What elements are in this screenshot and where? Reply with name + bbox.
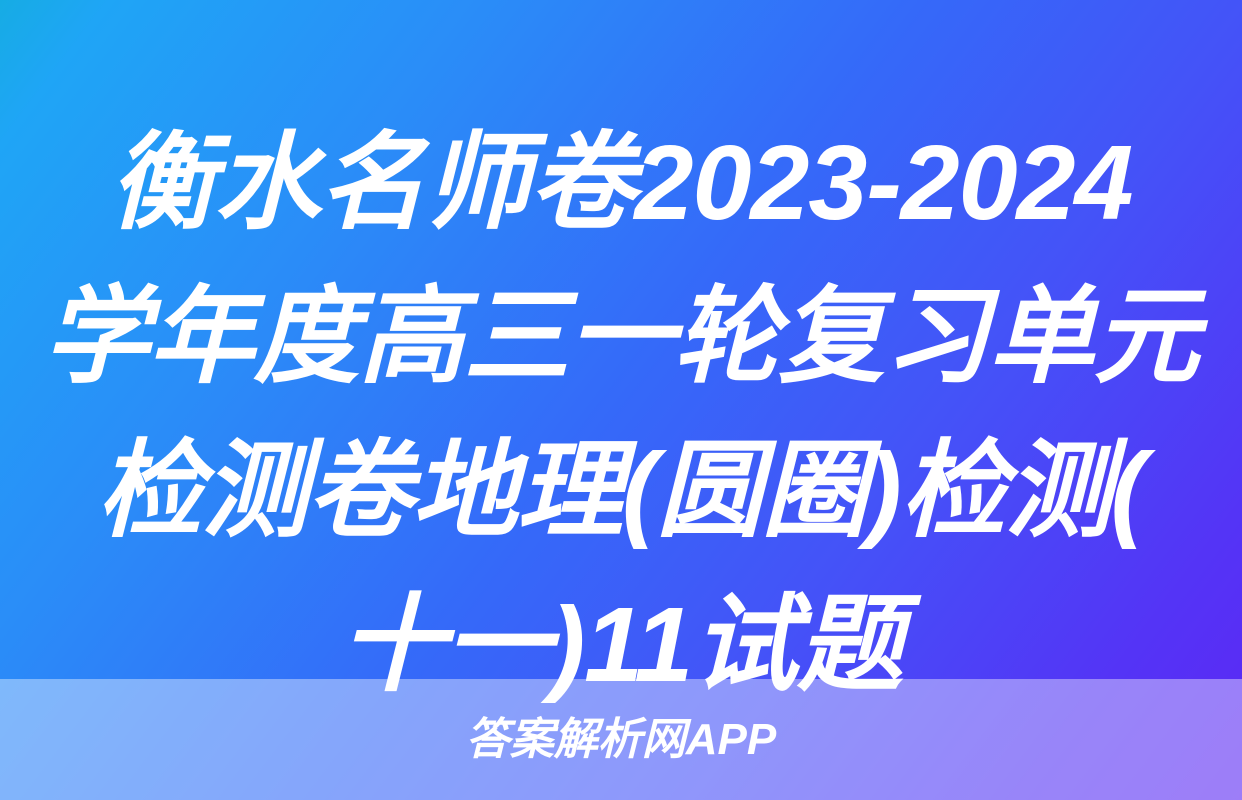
title-line-3: 检测卷地理(圆圈)检测(: [0, 414, 1242, 568]
watermark-app-label: 答案解析网APP: [466, 718, 776, 762]
poster-title: 衡水名师卷2023-2024 学年度高三一轮复习单元 检测卷地理(圆圈)检测( …: [0, 0, 1242, 722]
poster-canvas: 衡水名师卷2023-2024 学年度高三一轮复习单元 检测卷地理(圆圈)检测( …: [0, 0, 1242, 800]
watermark-band: 答案解析网APP: [0, 679, 1242, 800]
title-line-2: 学年度高三一轮复习单元: [0, 260, 1242, 414]
title-line-1: 衡水名师卷2023-2024: [0, 106, 1242, 260]
